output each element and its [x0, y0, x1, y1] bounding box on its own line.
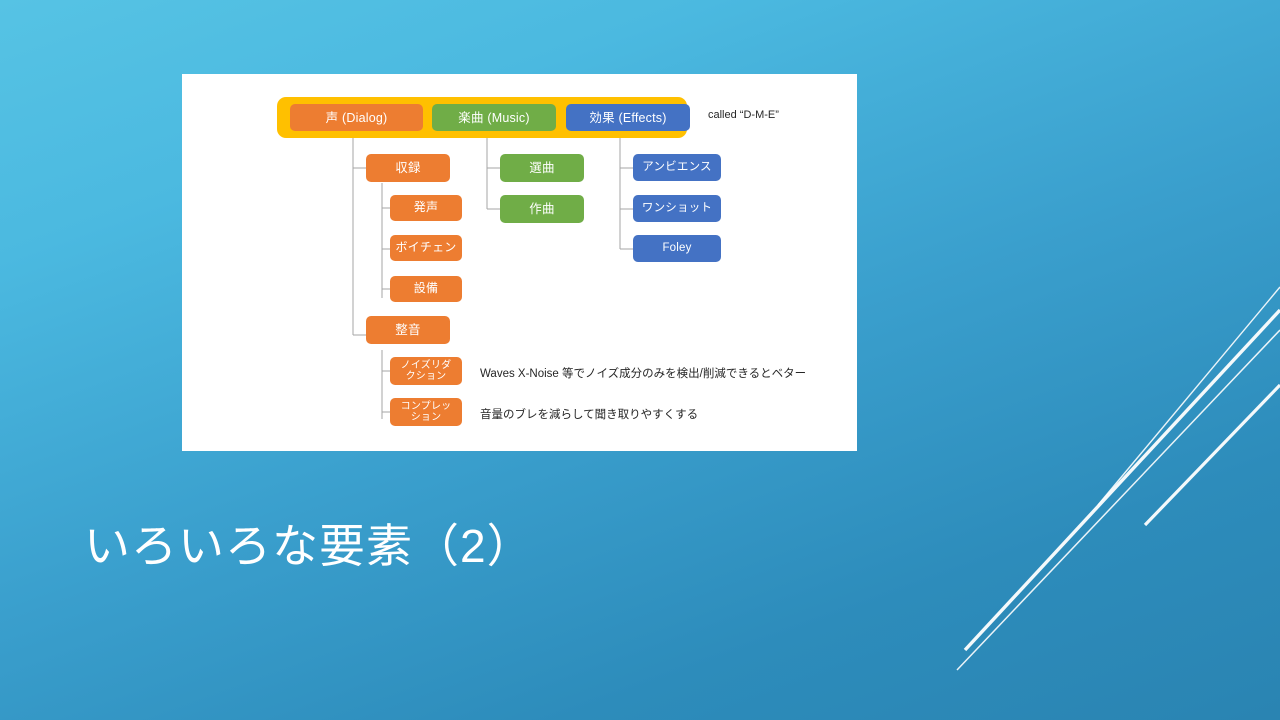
annotation-noise-reduction: Waves X-Noise 等でノイズ成分のみを検出/削減できるとベター: [480, 365, 806, 381]
group-note-label: called “D-M-E”: [708, 109, 779, 121]
streak-line-4: [1145, 385, 1280, 525]
page-title: いろいろな要素（2）: [84, 510, 534, 576]
node-foley[interactable]: Foley: [633, 235, 721, 262]
node-composing[interactable]: 作曲: [500, 195, 584, 223]
node-effects[interactable]: 効果 (Effects): [566, 104, 690, 131]
node-equipment[interactable]: 設備: [390, 276, 462, 302]
node-vocalization[interactable]: 発声: [390, 195, 462, 221]
node-music[interactable]: 楽曲 (Music): [432, 104, 556, 131]
node-voice-changer[interactable]: ボイチェン: [390, 235, 462, 261]
node-ambience[interactable]: アンビエンス: [633, 154, 721, 181]
annotation-compression: 音量のブレを減らして聞き取りやすくする: [480, 406, 698, 422]
streak-line-3: [957, 330, 1280, 670]
node-compression[interactable]: コンプレッ ション: [390, 398, 462, 426]
node-song-selection[interactable]: 選曲: [500, 154, 584, 182]
node-dialog[interactable]: 声 (Dialog): [290, 104, 423, 131]
node-recording[interactable]: 収録: [366, 154, 450, 182]
streak-line-1: [1098, 287, 1280, 505]
dme-tree-diagram: 声 (Dialog) 楽曲 (Music) 効果 (Effects) calle…: [182, 74, 857, 451]
slide: 声 (Dialog) 楽曲 (Music) 効果 (Effects) calle…: [0, 0, 1280, 720]
content-card: 声 (Dialog) 楽曲 (Music) 効果 (Effects) calle…: [182, 74, 857, 451]
streak-line-2: [965, 310, 1280, 650]
node-noise-reduction[interactable]: ノイズリダ クション: [390, 357, 462, 385]
node-seion[interactable]: 整音: [366, 316, 450, 344]
node-oneshot[interactable]: ワンショット: [633, 195, 721, 222]
